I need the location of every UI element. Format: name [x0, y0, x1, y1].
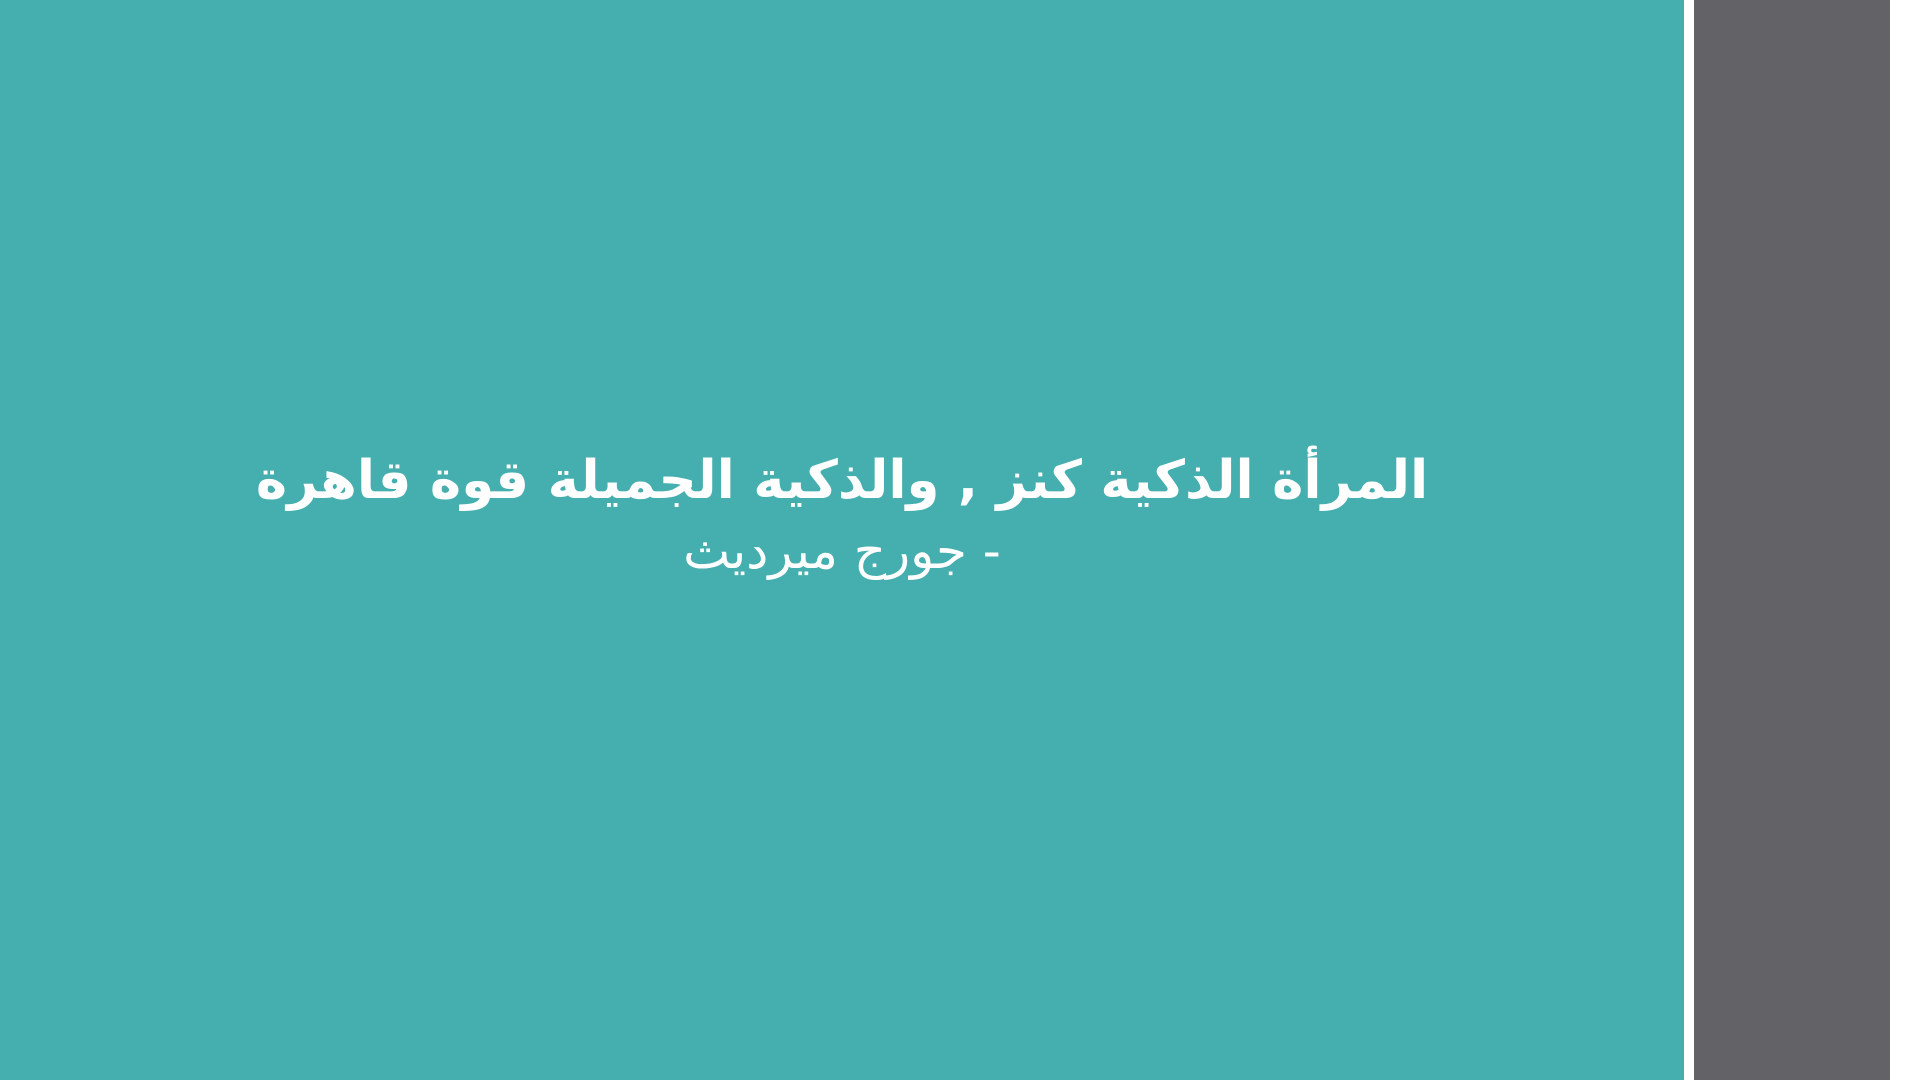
quote-line: المرأة الذكية كنز , والذكية الجميلة قوة … [102, 450, 1582, 513]
slide-viewer: المرأة الذكية كنز , والذكية الجميلة قوة … [0, 0, 1920, 1080]
quote-attribution: - جورج ميرديث [102, 519, 1582, 584]
slide-gutter-divider [1684, 0, 1694, 1080]
quote-text-block[interactable]: المرأة الذكية كنز , والذكية الجميلة قوة … [102, 450, 1582, 584]
slide-canvas[interactable]: المرأة الذكية كنز , والذكية الجميلة قوة … [0, 0, 1684, 1080]
right-margin [1890, 0, 1920, 1080]
side-panel[interactable] [1694, 0, 1890, 1080]
